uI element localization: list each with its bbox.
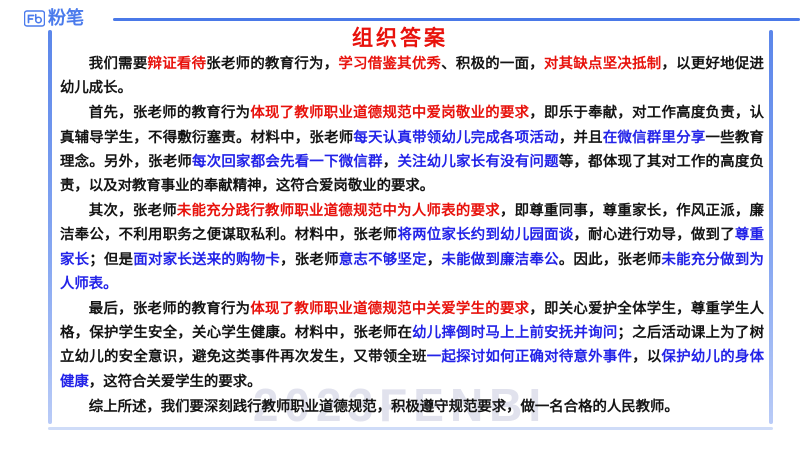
text-run-blue: 幼儿摔倒时马上上前安抚并询问 bbox=[412, 325, 617, 341]
page-title: 组织答案 bbox=[0, 22, 800, 52]
text-run-black: ， bbox=[427, 252, 442, 268]
text-run-black: ，以 bbox=[632, 349, 661, 365]
text-run-black: ，张老师 bbox=[280, 252, 339, 268]
text-run-red: 辩证看待 bbox=[148, 56, 207, 72]
left-accent-bar bbox=[48, 30, 52, 424]
text-run-blue: 将两位家长约到幼儿园面谈 bbox=[397, 227, 573, 243]
text-run-blue: 每天认真带领幼儿完成各项活动 bbox=[353, 130, 558, 146]
text-run-black: ，并且 bbox=[559, 130, 603, 146]
text-run-black: 、积极的一面， bbox=[441, 56, 544, 72]
right-accent-bar bbox=[769, 30, 773, 424]
text-run-blue: 未能做到廉洁奉公 bbox=[441, 252, 558, 268]
text-run-blue: 关注幼儿家长有没有问题 bbox=[397, 154, 558, 170]
text-run-black: ，这符合关爱学生的要求。 bbox=[89, 374, 262, 390]
answer-body: 我们需要辩证看待张老师的教育行为，学习借鉴其优秀、积极的一面，对其缺点坚决抵制，… bbox=[60, 52, 764, 420]
text-run-black: 我们需要 bbox=[89, 56, 148, 72]
text-run-blue: 面对家长送来的购物卡 bbox=[133, 252, 280, 268]
text-run-black: 综上所述，我们要深刻践行教师职业道德规范，积极遵守规范要求，做一名合格的人民教师… bbox=[89, 399, 679, 415]
text-run-red: 未能充分践行教师职业道德规范中为人师表的要求 bbox=[177, 203, 500, 219]
text-run-black: 最后，张老师的教育行为 bbox=[89, 301, 251, 317]
text-run-black: 其次，张老师 bbox=[89, 203, 177, 219]
paragraph: 其次，张老师未能充分践行教师职业道德规范中为人师表的要求，即尊重同事，尊重家长，… bbox=[60, 199, 764, 296]
text-run-black: 张老师的教育行为， bbox=[206, 56, 338, 72]
paragraph: 我们需要辩证看待张老师的教育行为，学习借鉴其优秀、积极的一面，对其缺点坚决抵制，… bbox=[60, 52, 764, 100]
text-run-black: ；但是 bbox=[89, 252, 133, 268]
text-run-red: 体现了教师职业道德规范中爱岗敬业的要求 bbox=[250, 105, 529, 121]
text-run-black: 首先，张老师的教育行为 bbox=[89, 105, 251, 121]
text-run-red: 对其缺点坚决抵制 bbox=[544, 56, 661, 72]
text-run-blue: 每次回家都会先看一下微信群 bbox=[192, 154, 383, 170]
text-run-blue: 意志不够坚定 bbox=[339, 252, 427, 268]
paragraph: 综上所述，我们要深刻践行教师职业道德规范，积极遵守规范要求，做一名合格的人民教师… bbox=[60, 395, 764, 419]
slide-canvas: 2023FENBI 粉笔 组织答案 我们需要辩证看待张老师的教育行为，学习借鉴其… bbox=[0, 0, 800, 450]
paragraph: 首先，张老师的教育行为体现了教师职业道德规范中爱岗敬业的要求，即乐于奉献，对工作… bbox=[60, 101, 764, 198]
text-run-black: ， bbox=[383, 154, 398, 170]
paragraph: 最后，张老师的教育行为体现了教师职业道德规范中关爱学生的要求，即关心爱护全体学生… bbox=[60, 297, 764, 394]
text-run-red: 体现了教师职业道德规范中关爱学生的要求 bbox=[250, 301, 529, 317]
text-run-red: 学习借鉴其优秀 bbox=[338, 56, 441, 72]
text-run-blue: 一起探讨如何正确对待意外事件 bbox=[427, 349, 632, 365]
header-divider-rule bbox=[113, 18, 800, 21]
text-run-black: 。因此，张老师 bbox=[559, 252, 662, 268]
bottom-accent-bar bbox=[48, 427, 773, 430]
text-run-black: ，耐心进行劝导，做到了 bbox=[574, 227, 735, 243]
text-run-blue: 在微信群里分享 bbox=[603, 130, 706, 146]
